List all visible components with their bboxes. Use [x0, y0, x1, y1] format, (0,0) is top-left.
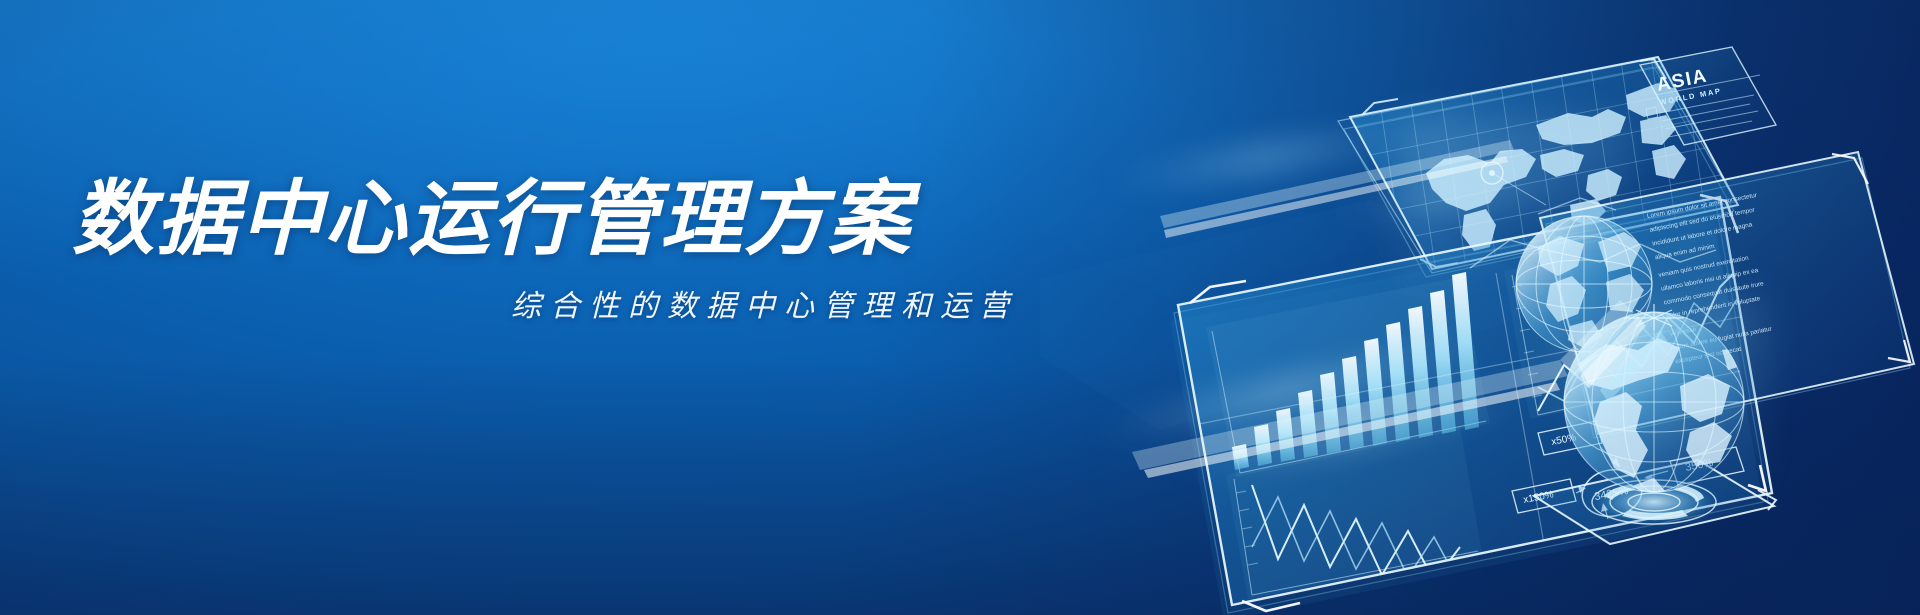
page-subtitle: 综合性的数据中心管理和运营 — [72, 281, 1032, 325]
page-title: 数据中心运行管理方案 — [72, 176, 1032, 265]
hero-banner: 数据中心运行管理方案 综合性的数据中心管理和运营 — [0, 0, 1920, 615]
hero-copy: 数据中心运行管理方案 综合性的数据中心管理和运营 — [72, 176, 1032, 325]
